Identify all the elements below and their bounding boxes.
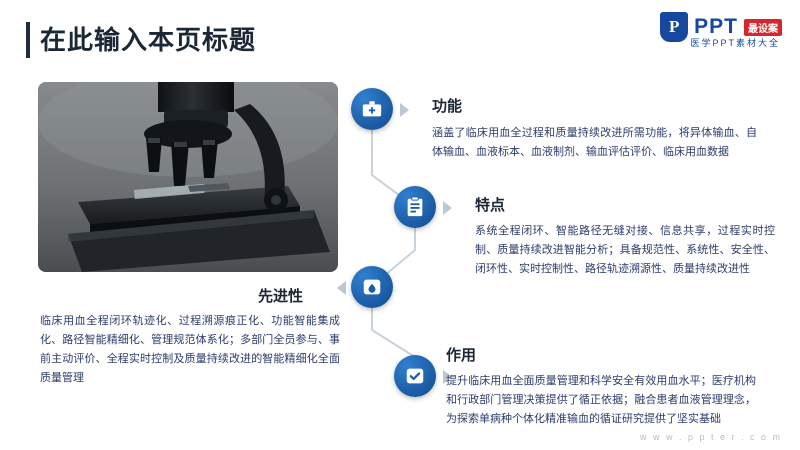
check-circle-icon	[404, 365, 426, 387]
node-icon-3[interactable]	[351, 266, 393, 308]
microscope-photo	[38, 82, 338, 272]
block-heading-3: 作用	[446, 344, 476, 365]
title-accent-bar	[26, 22, 30, 58]
node-icon-2[interactable]	[394, 186, 436, 228]
arrow-3-icon	[337, 281, 346, 295]
block-body-2: 系统全程闭环、智能路径无缝对接、信息共享，过程实时控制、质量持续改进智能分析；具…	[475, 222, 775, 279]
clipboard-icon	[404, 196, 426, 218]
node-icon-4[interactable]	[394, 355, 436, 397]
microscope-illustration	[38, 82, 338, 272]
blood-donation-icon	[361, 276, 383, 298]
briefcase-medical-icon	[361, 98, 383, 120]
block-heading-1: 功能	[432, 95, 462, 116]
block-body-1: 涵盖了临床用血全过程和质量持续改进所需功能，将异体输血、自体输血、血液标本、血液…	[432, 124, 757, 162]
page-title: 在此输入本页标题	[40, 20, 256, 57]
arrow-1-icon	[400, 103, 409, 117]
block-heading-2: 特点	[475, 194, 505, 215]
logo-tag: 最设案	[744, 19, 782, 36]
arrow-2-icon	[443, 201, 452, 215]
left-block-body: 临床用血全程闭环轨迹化、过程溯源痕正化、功能智能集成化、路径智能精细化、管理规范…	[40, 312, 340, 388]
left-block-heading: 先进性	[258, 285, 303, 306]
block-body-3: 提升临床用血全面质量管理和科学安全有效用血水平；医疗机构和行政部门管理决策提供了…	[446, 372, 756, 429]
node-icon-1[interactable]	[351, 88, 393, 130]
logo-subtitle: 医学PPT素材大全	[690, 36, 780, 49]
logo-badge-icon: P	[660, 12, 688, 42]
footer-watermark: w w w . p p t e r . c o m	[640, 432, 782, 442]
